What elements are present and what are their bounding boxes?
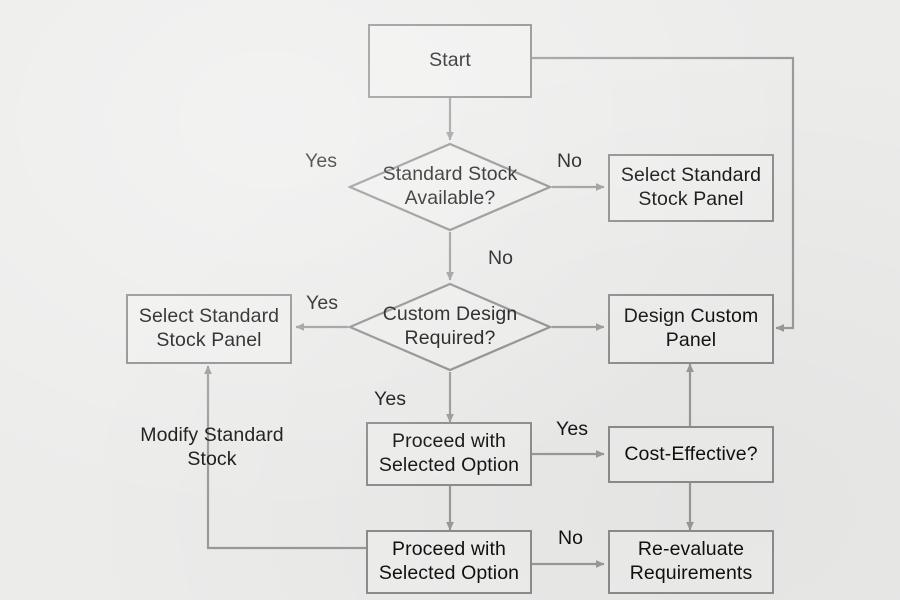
edge-label-yes-custom-design-left: Yes (306, 292, 338, 315)
node-select-standard-stock-panel-2-label: Select Standard Stock Panel (133, 305, 285, 353)
edge-label-no-to-custom-design: No (488, 247, 513, 270)
edge-label-yes-custom-design-down: Yes (374, 388, 406, 411)
node-select-standard-stock-panel-1-label: Select Standard Stock Panel (615, 164, 767, 212)
edge-label-yes-standard-stock-left: Yes (305, 150, 337, 173)
edge-label-no-reevaluate: No (558, 527, 583, 550)
node-start[interactable]: Start (368, 24, 532, 98)
node-custom-design-required-label: Custom Design Required? (348, 282, 552, 372)
node-cost-effective[interactable]: Cost-Effective? (608, 426, 774, 483)
node-design-custom-panel-label: Design Custom Panel (618, 305, 765, 353)
annotation-modify-standard-stock: Modify Standard Stock (122, 424, 302, 472)
node-select-standard-stock-panel-1[interactable]: Select Standard Stock Panel (608, 154, 774, 222)
edge-label-yes-cost-effective: Yes (556, 418, 588, 441)
node-proceed-with-selected-option-2-label: Proceed with Selected Option (373, 538, 525, 586)
node-reevaluate-requirements-label: Re-evaluate Requirements (624, 538, 759, 586)
node-proceed-with-selected-option-2[interactable]: Proceed with Selected Option (366, 530, 532, 594)
node-select-standard-stock-panel-2[interactable]: Select Standard Stock Panel (126, 294, 292, 364)
node-reevaluate-requirements[interactable]: Re-evaluate Requirements (608, 530, 774, 594)
node-design-custom-panel[interactable]: Design Custom Panel (608, 294, 774, 364)
node-proceed-with-selected-option-1[interactable]: Proceed with Selected Option (366, 422, 532, 486)
node-start-label: Start (423, 49, 477, 73)
node-cost-effective-label: Cost-Effective? (618, 443, 763, 467)
node-proceed-with-selected-option-1-label: Proceed with Selected Option (373, 430, 525, 478)
edge-label-no-standard-stock-right: No (557, 150, 582, 173)
node-standard-stock-available[interactable]: Standard Stock Available? (348, 142, 552, 232)
node-custom-design-required[interactable]: Custom Design Required? (348, 282, 552, 372)
flowchart-canvas: Start Standard Stock Available? Select S… (0, 0, 900, 600)
node-standard-stock-available-label: Standard Stock Available? (348, 142, 552, 232)
